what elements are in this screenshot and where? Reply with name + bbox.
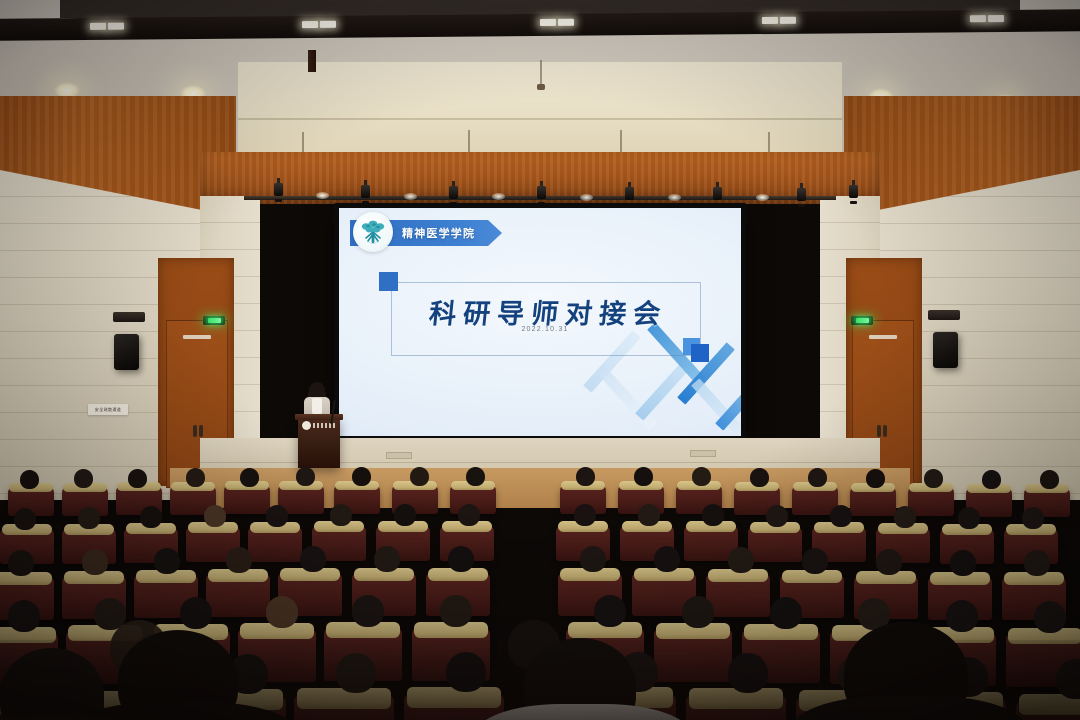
beam-lamp: [762, 17, 778, 24]
beam-lamp: [970, 15, 986, 22]
audience-head: [638, 504, 660, 526]
seat[interactable]: [850, 486, 896, 516]
audience-head: [876, 549, 902, 575]
seat[interactable]: [224, 484, 270, 514]
door-handle[interactable]: [883, 425, 887, 437]
accent-square-top-left: [379, 272, 398, 291]
beam-lamp: [320, 21, 336, 28]
audience-head: [466, 467, 485, 486]
audience-head: [78, 507, 100, 529]
audience-head: [140, 506, 162, 528]
door-pushplate: [869, 335, 897, 339]
beam-lamp: [558, 19, 574, 26]
audience-head: [770, 597, 802, 629]
audience-head: [894, 506, 916, 528]
seat[interactable]: [248, 526, 302, 562]
presentation-slide[interactable]: 科研导师对接会 2022.10.31 精神医学学院: [339, 208, 741, 436]
audience-head: [180, 597, 212, 629]
audience-head: [266, 505, 288, 527]
projection-screen-bezel: 科研导师对接会 2022.10.31 精神医学学院: [334, 203, 746, 441]
audience-head: [802, 548, 828, 574]
audience-head: [82, 549, 108, 575]
podium-lettering: [313, 423, 337, 428]
audience-head: [808, 468, 827, 487]
beam-lamp: [90, 23, 106, 30]
audience-head: [204, 505, 226, 527]
door-handle[interactable]: [877, 425, 881, 437]
slide-banner-label: 精神医学学院: [402, 225, 475, 241]
audience-head: [296, 467, 315, 486]
stage-spotlight: [536, 181, 547, 203]
audience-head: [946, 600, 978, 632]
audience-head: [594, 595, 626, 627]
audience-head: [186, 468, 205, 487]
evacuation-sign-text: 安全疏散通道: [95, 407, 121, 413]
audience-head: [14, 508, 36, 530]
foreground-shadow: [0, 640, 1080, 720]
speaker-bracket-right: [928, 310, 960, 320]
rail-downlight: [668, 194, 681, 201]
podium-top: [295, 414, 343, 420]
audience-head: [576, 467, 595, 486]
beam-lamp: [988, 15, 1004, 22]
rail-downlight: [756, 194, 769, 201]
stage-spotlight: [712, 182, 723, 204]
rail-downlight: [316, 192, 329, 199]
stage-spotlight: [848, 180, 859, 202]
audience-head: [924, 469, 943, 488]
soffit-seam: [238, 118, 842, 120]
speaker-bracket-left: [113, 312, 145, 322]
audience-head: [8, 550, 34, 576]
audience-head: [634, 467, 653, 486]
stage-spotlight: [360, 180, 371, 202]
audience-head: [440, 595, 472, 627]
audience-head: [240, 468, 259, 487]
evacuation-sign: 安全疏散通道: [88, 404, 128, 415]
audience-head: [352, 467, 371, 486]
audience-head: [750, 468, 769, 487]
podium-stem: [308, 50, 316, 72]
wall-speaker-left: [114, 334, 139, 370]
auditorium-scene: 安全疏散通道 科研导师对接会 2022.10.31: [0, 0, 1080, 720]
audience-head: [692, 467, 711, 486]
audience-head: [950, 550, 976, 576]
seat[interactable]: [748, 526, 802, 562]
audience-head: [128, 469, 147, 488]
audience-head: [982, 470, 1001, 489]
tree-emblem-logo: [353, 212, 393, 252]
ceiling-hanger: [540, 60, 542, 86]
seat[interactable]: [206, 573, 270, 617]
audience-head: [410, 467, 429, 486]
stage-spotlight: [448, 181, 459, 203]
presenter-shirt: [312, 398, 322, 414]
audience-head: [458, 504, 480, 526]
exit-sign-left: [203, 316, 225, 325]
audience-head: [866, 469, 885, 488]
audience-head: [580, 546, 606, 572]
beam-lamp: [780, 17, 796, 24]
audience-head: [226, 547, 252, 573]
podium-crest-icon: [302, 421, 311, 430]
rail-downlight: [580, 194, 593, 201]
audience-head: [1034, 601, 1066, 633]
accent-square-bottom-right-dark: [691, 344, 709, 362]
audience-head: [352, 595, 384, 627]
beam-lamp: [302, 21, 318, 28]
audience-head: [682, 596, 714, 628]
audience-head: [8, 600, 40, 632]
audience-head: [394, 504, 416, 526]
audience-head: [300, 546, 326, 572]
door-handle[interactable]: [199, 425, 203, 437]
audience-head: [958, 507, 980, 529]
audience-head: [374, 546, 400, 572]
exit-sign-right: [851, 316, 873, 325]
audience-head: [766, 505, 788, 527]
audience-head: [448, 546, 474, 572]
audience-head: [702, 504, 724, 526]
beam-lamp: [540, 19, 556, 26]
slide-date: 2022.10.31: [391, 326, 699, 333]
audience-head: [20, 470, 39, 489]
stage-spotlight: [624, 182, 635, 204]
stage-spotlight: [796, 183, 807, 205]
audience-head: [266, 596, 298, 628]
audience-head: [330, 504, 352, 526]
rail-downlight: [492, 193, 505, 200]
audience-head: [154, 548, 180, 574]
rail-downlight: [404, 193, 417, 200]
audience-head: [1040, 470, 1059, 489]
audience-head: [654, 546, 680, 572]
seat[interactable]: [706, 573, 770, 617]
stage-spotlight: [273, 178, 284, 200]
audience-head: [74, 469, 93, 488]
audience-head: [574, 504, 596, 526]
audience-head: [1024, 550, 1050, 576]
door-pushplate: [183, 335, 211, 339]
door-handle[interactable]: [193, 425, 197, 437]
audience-head: [1022, 507, 1044, 529]
wall-speaker-right: [933, 332, 958, 368]
beam-lamp: [108, 23, 124, 30]
audience-head: [830, 505, 852, 527]
audience-head: [728, 547, 754, 573]
